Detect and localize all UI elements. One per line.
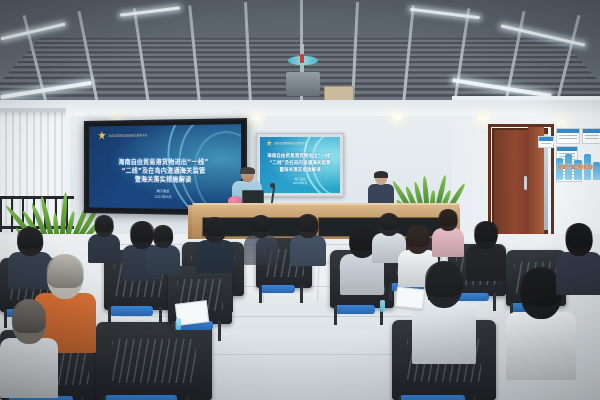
audience-member-hair — [297, 214, 318, 232]
chair-back-slots — [112, 339, 196, 383]
audience-member-hair — [379, 213, 399, 230]
downlight-4 — [478, 116, 489, 121]
audience-member — [88, 216, 120, 262]
audience-member-torso — [196, 240, 234, 273]
downlight-3 — [392, 115, 403, 120]
wall-poster[interactable] — [556, 128, 580, 144]
audience-member-hair — [12, 299, 46, 333]
audience-member-hair — [565, 223, 592, 248]
handout-paper-2[interactable] — [395, 287, 425, 310]
secondary-title: 海南自由贸易港货物进出“一线” “二线”及在岛内流通海关监管 暨海关落实措施解读 — [260, 153, 340, 174]
screen-subtitle: 海口海关 2023年9月 — [89, 189, 241, 201]
audience-member-torso — [556, 252, 600, 295]
poster-header-band — [557, 129, 579, 133]
screen-title: 海南自由贸易港货物进出“一线” “二线”及在岛内流通海关监管 暨海关落实措施解读 — [89, 158, 241, 185]
chair-seat — [110, 306, 153, 316]
audience-member-hair — [439, 209, 458, 226]
water-bottle-1[interactable] — [176, 318, 181, 330]
secondary-display[interactable]: 海南自贸港跨境电商综合服务平台 海南自由贸易港货物进出“一线” “二线”及在岛内… — [256, 133, 344, 197]
screen-logo-text: 海南自贸港跨境电商综合服务平台 — [108, 133, 147, 137]
projector-indicator — [300, 54, 304, 63]
audience-member-torso — [146, 245, 180, 275]
audience-member-hair — [251, 215, 271, 232]
ceiling-projector — [286, 72, 320, 96]
secondary-logo: 海南自贸港跨境电商综合服务平台 — [266, 140, 307, 146]
poster-text-lines — [585, 135, 599, 141]
chair-seat — [260, 285, 295, 293]
wall-poster[interactable] — [538, 136, 554, 148]
chair-leg — [259, 286, 262, 303]
audience-member — [432, 210, 464, 256]
downlight-5 — [556, 120, 567, 125]
screen-title-line-3: 暨海关落实措施解读 — [89, 175, 241, 184]
audience-member — [290, 215, 326, 265]
audience-member-hair — [406, 225, 430, 247]
wall-poster[interactable] — [582, 128, 600, 144]
poster-text-lines — [559, 135, 577, 141]
poster-header-band — [539, 137, 553, 141]
audience-member-hair — [47, 254, 84, 288]
railing-baluster — [0, 196, 2, 232]
audience-member-torso — [432, 228, 464, 257]
secondary-title-line-3: 暨海关落实措施解读 — [260, 167, 340, 174]
audience-member-hair — [17, 227, 43, 249]
chair-leg — [389, 284, 392, 300]
chair-leg — [103, 396, 106, 400]
audience-member-torso — [244, 235, 278, 265]
poster-header-band — [583, 129, 600, 133]
chair-leg — [186, 396, 189, 400]
chair-leg — [81, 397, 84, 400]
audience-member — [412, 262, 476, 362]
audience-member-torso — [0, 338, 58, 398]
audience-member-hair — [153, 225, 173, 242]
conference-room-photo: 海南自贸港跨境电商综合服务平台 海南自由贸易港货物进出“一线” “二线”及在岛内… — [0, 0, 600, 400]
audience-member-hair — [204, 217, 226, 236]
audience-member-torso — [506, 312, 576, 380]
audience-member-torso — [290, 235, 326, 266]
wall-graphic-headline: 新时代文明实践 — [558, 164, 593, 171]
ceiling-cornice — [0, 100, 600, 116]
secondary-title-line-1: 海南自由贸易港货物进出“一线” — [260, 153, 340, 160]
presenter-hair — [240, 167, 255, 174]
projection-screen-content: 海南自贸港跨境电商综合服务平台 海南自由贸易港货物进出“一线” “二线”及在岛内… — [89, 124, 241, 210]
audience-member — [196, 218, 234, 272]
microphone-head[interactable] — [270, 183, 275, 188]
chair-leg — [493, 293, 496, 311]
secondary-title-line-2: “二线”及在岛内流通海关监管 — [260, 160, 340, 167]
wall-graphic-bar — [593, 162, 600, 180]
star-icon — [266, 140, 272, 146]
audience-member-torso — [412, 302, 476, 364]
chair[interactable] — [96, 322, 212, 400]
audience-member — [556, 224, 600, 294]
star-icon — [98, 131, 106, 140]
chair-seat — [105, 395, 177, 400]
secondary-logo-text: 海南自贸港跨境电商综合服务平台 — [274, 141, 307, 145]
wall-graphic-logo: 新时代文明实践 — [556, 146, 600, 180]
chair-leg — [398, 396, 401, 400]
projection-screen[interactable]: 海南自贸港跨境电商综合服务平台 海南自由贸易港货物进出“一线” “二线”及在岛内… — [84, 118, 247, 216]
audience-member-hair — [474, 221, 498, 242]
screen-subtitle-line-2: 2023年9月 — [89, 194, 241, 201]
downlight-2 — [250, 116, 261, 121]
attendee-standing-hair — [374, 171, 388, 178]
screen-title-line-1: 海南自由贸易港货物进出“一线” — [89, 158, 241, 167]
door-handle[interactable] — [524, 176, 527, 190]
chair-leg — [172, 321, 175, 341]
audience-member-torso — [88, 234, 120, 263]
chair-seat — [335, 305, 375, 314]
chair-leg — [300, 286, 303, 303]
chair-backrest — [96, 322, 212, 400]
chair-seat — [400, 395, 464, 400]
chair-leg — [473, 396, 476, 400]
audience-member — [0, 300, 58, 396]
laptop-on-desk[interactable] — [242, 190, 264, 204]
audience-member — [244, 216, 278, 264]
audience-member — [146, 226, 180, 274]
poster-text-lines — [541, 143, 551, 145]
chair-leg — [218, 321, 221, 341]
water-bottle-2[interactable] — [380, 300, 385, 312]
screen-logo: 海南自贸港跨境电商综合服务平台 — [98, 130, 148, 139]
chair-leg — [334, 305, 337, 325]
audience-member-hair — [425, 261, 463, 297]
audience-member-hair — [95, 215, 114, 232]
